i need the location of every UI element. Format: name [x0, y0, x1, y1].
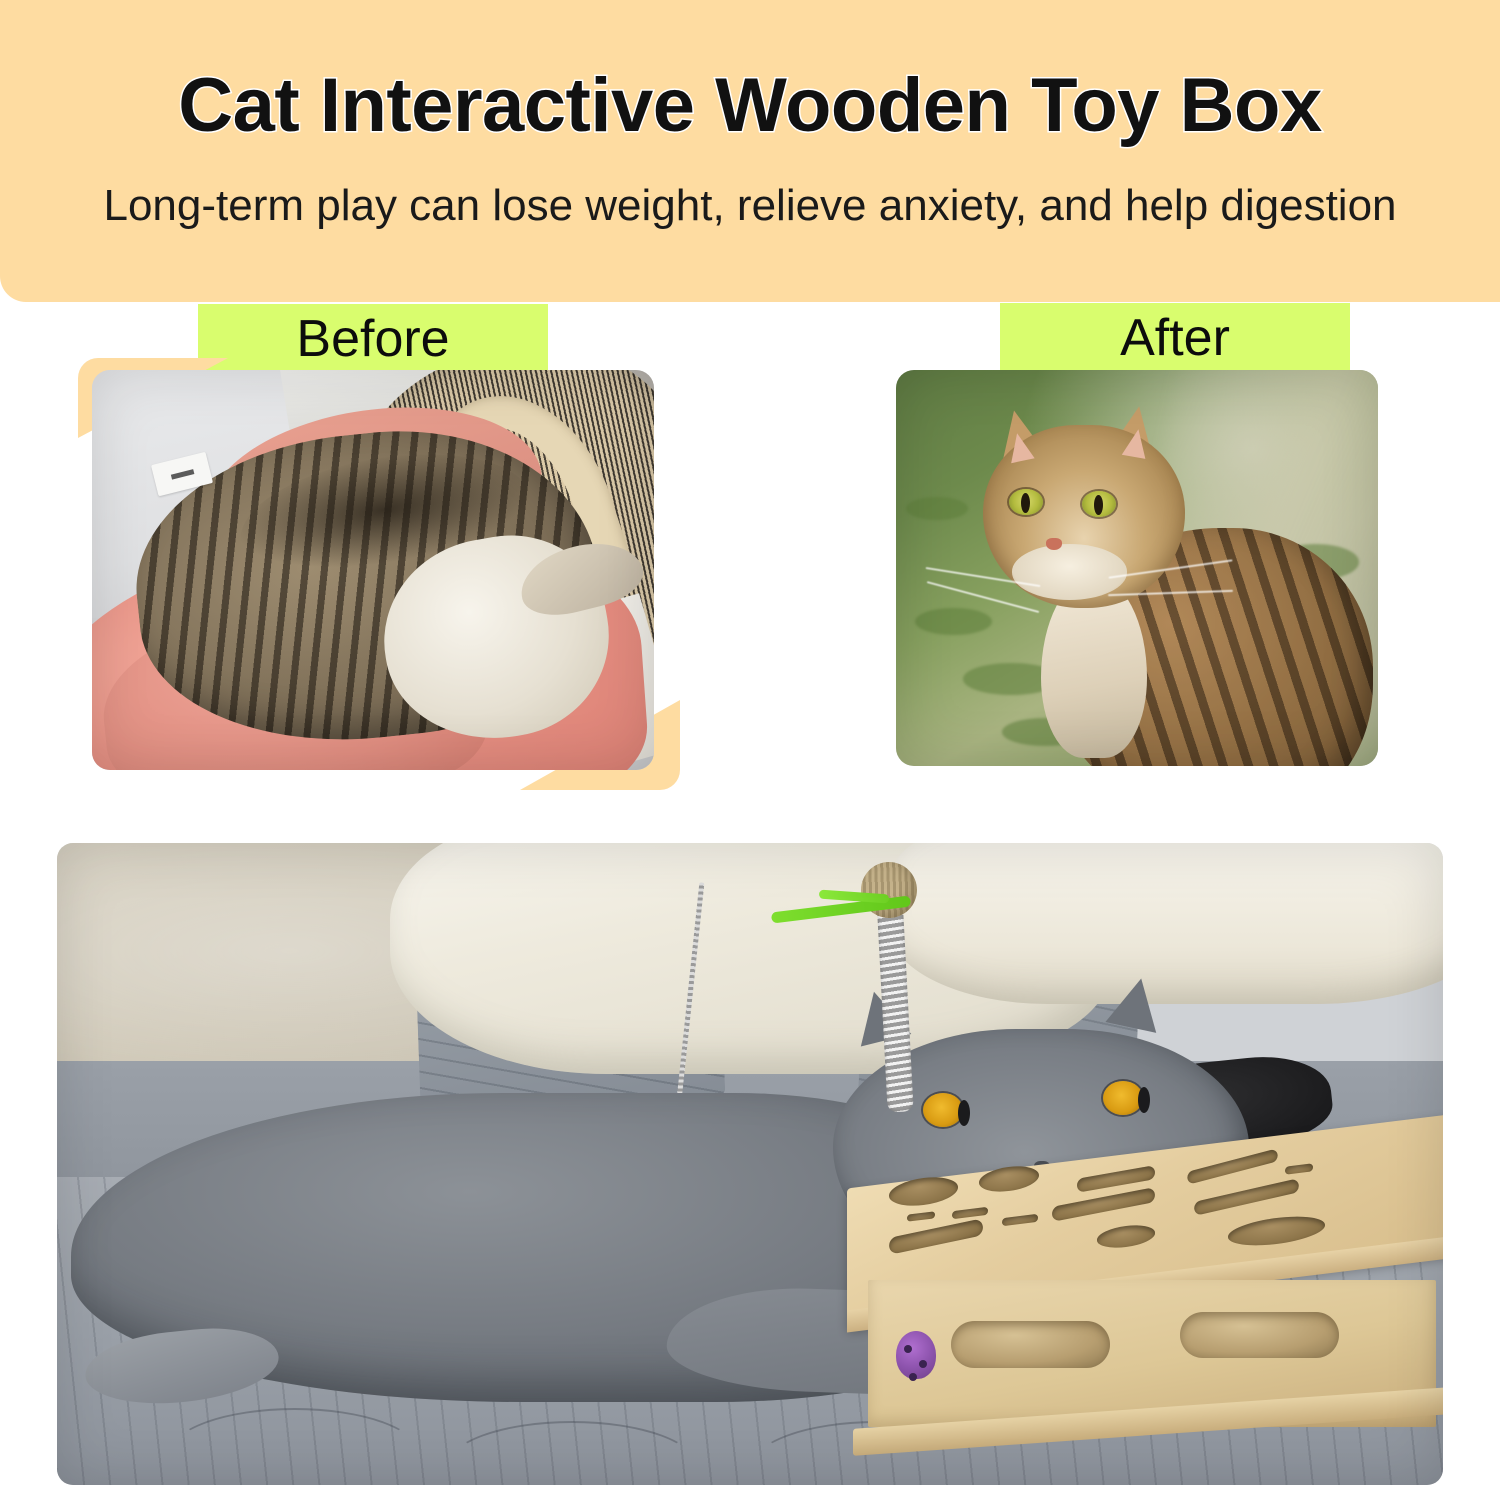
after-label: After	[1000, 303, 1350, 373]
header-banner: Cat Interactive Wooden Toy Box Long-term…	[0, 0, 1500, 302]
purple-mouse-toy	[896, 1331, 936, 1379]
infographic-page: Cat Interactive Wooden Toy Box Long-term…	[0, 0, 1500, 1500]
before-label: Before	[198, 304, 548, 374]
toy-box-side-hole-right	[1180, 1312, 1339, 1358]
before-photo	[92, 370, 654, 770]
page-subtitle: Long-term play can lose weight, relieve …	[0, 183, 1500, 229]
page-title: Cat Interactive Wooden Toy Box	[0, 68, 1500, 144]
after-photo	[896, 370, 1378, 766]
toy-box-side-hole-left	[951, 1321, 1110, 1367]
product-photo	[57, 843, 1443, 1485]
grey-cat-ear-right-icon	[1106, 973, 1167, 1033]
